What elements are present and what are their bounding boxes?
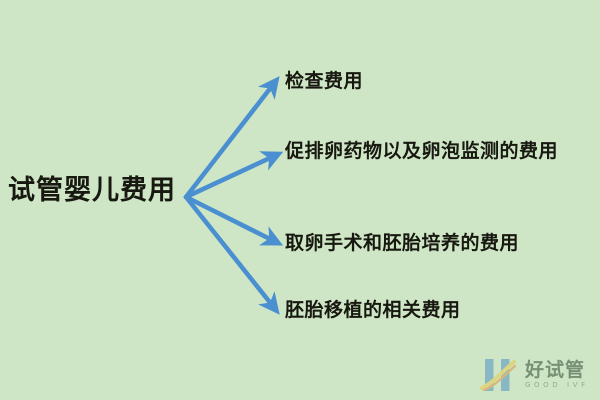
branch-label-0: 检查费用	[285, 69, 363, 93]
logo-h-mark-icon	[480, 357, 516, 393]
branch-label-2: 取卵手术和胚胎培养的费用	[285, 231, 519, 255]
logo-text-block: 好试管 GOOD IVF	[523, 360, 589, 391]
logo-name: 好试管	[525, 360, 589, 380]
logo-tagline: GOOD IVF	[525, 380, 589, 391]
branch-label-3: 胚胎移植的相关费用	[285, 298, 461, 322]
arrow-to-branch-3	[186, 197, 272, 305]
branch-label-1: 促排卵药物以及卵泡监测的费用	[285, 139, 558, 163]
diagram-canvas: 试管婴儿费用 检查费用 促排卵药物以及卵泡监测的费用 取卵手术和胚胎培养的费用 …	[0, 0, 600, 400]
arrow-to-branch-2	[186, 197, 272, 240]
arrow-to-branch-0	[186, 86, 272, 197]
watermark-logo: 好试管 GOOD IVF	[480, 357, 589, 393]
root-node-label: 试管婴儿费用	[8, 174, 176, 208]
